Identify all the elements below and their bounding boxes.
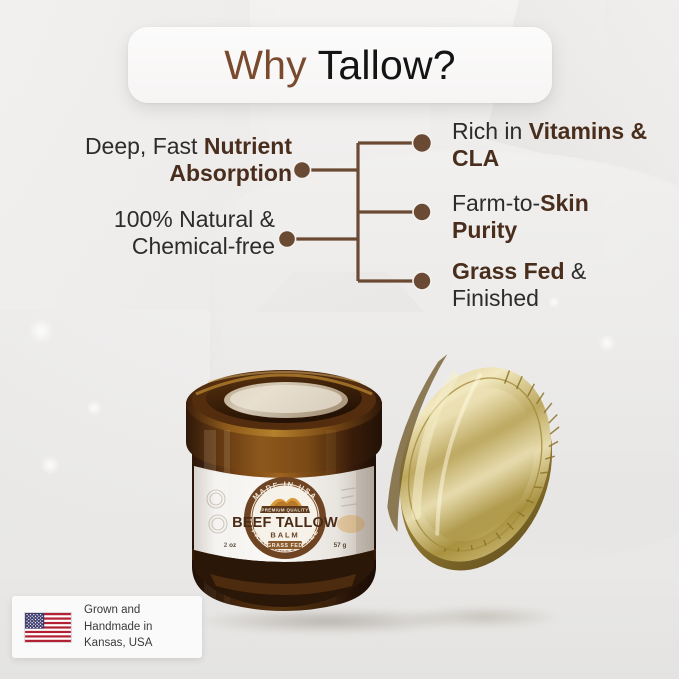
product-image: MADE IN USA FRAGRANCE FREE PREMIUM QUALI… (150, 338, 570, 638)
usa-flag-icon (24, 612, 72, 643)
product-label: MADE IN USA FRAGRANCE FREE PREMIUM QUALI… (194, 466, 374, 562)
jar-body: MADE IN USA FRAGRANCE FREE PREMIUM QUALI… (186, 370, 382, 618)
benefit-skin-purity: Farm-to-Skin Purity (452, 190, 652, 244)
label-size-g: 57 g (334, 542, 347, 549)
connector-dot-vitamins-cla (413, 134, 432, 153)
usa-badge-line-1: Grown and (84, 602, 152, 619)
usa-badge-line-3: Kansas, USA (84, 635, 152, 652)
lid-drop-shadow (408, 606, 558, 628)
jar-lid (364, 344, 570, 592)
benefit-highlight-text: Grass Fed (452, 258, 565, 284)
benefit-grass-fed: Grass Fed & Finished (452, 258, 652, 312)
jar-and-lid-illustration: MADE IN USA FRAGRANCE FREE PREMIUM QUALI… (150, 338, 570, 638)
connector-dot-chemical-free (278, 230, 295, 247)
connector-dot-nutrient-absorption (293, 161, 310, 178)
benefit-plain-text: Farm-to- (452, 190, 540, 216)
product-infographic: Why Tallow? Deep, Fast Nutrient Absorpti… (0, 0, 679, 679)
benefit-vitamins-cla: Rich in Vitamins & CLA (452, 118, 662, 172)
benefit-natural-chemical-free: 100% Natural & Chemical-free (30, 206, 275, 260)
label-brand-banner: PREMIUM QUALITY (261, 508, 308, 513)
label-grass-fed: GRASS FED (267, 543, 303, 549)
connector-dot-grass-fed (413, 272, 431, 290)
benefit-plain-text: Deep, Fast (85, 133, 204, 159)
usa-badge-text: Grown and Handmade in Kansas, USA (84, 602, 152, 652)
usa-origin-badge: Grown and Handmade in Kansas, USA (12, 596, 202, 658)
usa-badge-line-2: Handmade in (84, 619, 152, 636)
label-product-type: BALM (270, 531, 299, 540)
benefit-plain-text: Rich in (452, 118, 529, 144)
connector-dot-skin-purity (413, 203, 431, 221)
label-product-name: BEEF TALLOW (232, 515, 338, 531)
benefit-plain-text: 100% Natural & Chemical-free (114, 206, 275, 259)
benefit-nutrient-absorption: Deep, Fast Nutrient Absorption (30, 133, 292, 187)
